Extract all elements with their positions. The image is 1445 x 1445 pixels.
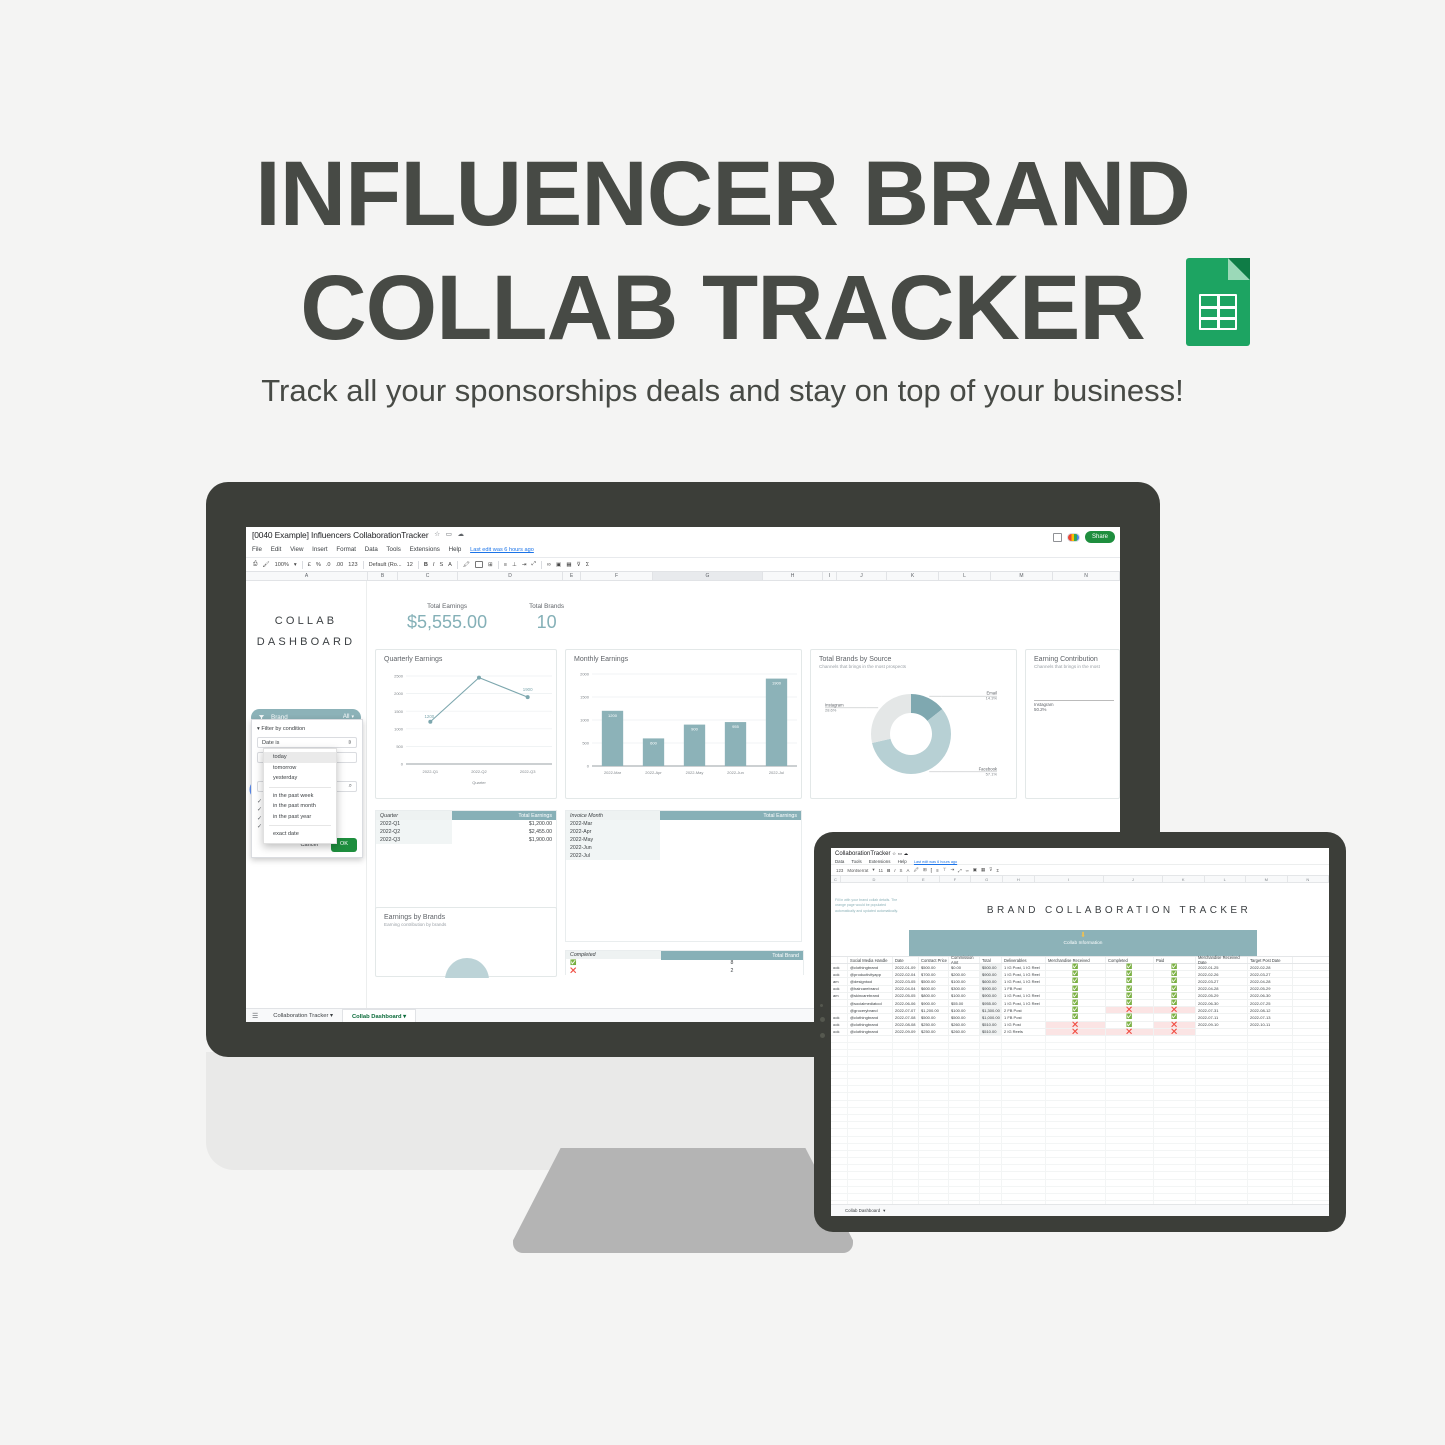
- tablet-volume-button[interactable]: [820, 1017, 825, 1022]
- search-icon: ⌕: [349, 783, 352, 790]
- table-cell: $500.00: [919, 964, 949, 970]
- table-cell: 2022-07-08: [893, 1014, 919, 1020]
- column-header[interactable]: Merchandise Received Date: [1196, 957, 1248, 963]
- document-title[interactable]: [0040 Example] Influencers Collaboration…: [252, 530, 429, 540]
- table-cell: $250.00: [919, 1022, 949, 1028]
- status-cell-paid[interactable]: ❌: [1154, 1007, 1196, 1013]
- last-edit-link[interactable]: Last edit was 6 hours ago: [914, 860, 957, 864]
- table-cell: 2022-05-29: [1196, 993, 1248, 999]
- fill-color-icon[interactable]: 🖍: [463, 562, 470, 568]
- table-row[interactable]: 2022-Mar: [566, 820, 801, 828]
- document-title[interactable]: CollaborationTracker ☆ ▭ ☁: [831, 848, 1329, 857]
- table-header-row[interactable]: Social Media HandleDateContract PriceCom…: [831, 956, 1329, 964]
- column-header[interactable]: Quarter: [376, 811, 452, 820]
- table-row[interactable]: 2022-Jun: [566, 844, 801, 852]
- table-cell: $500.00: [949, 1014, 980, 1020]
- status-cell-merch[interactable]: ✅: [1046, 978, 1106, 984]
- column-header[interactable]: Total Earnings: [660, 811, 801, 820]
- completed-table[interactable]: Completed Total Brand ✅ 8 ❌ 2: [565, 950, 804, 975]
- check-icon: ✅: [1072, 971, 1078, 977]
- table-cell: @socialmediatool: [848, 1000, 893, 1006]
- table-cell: $800.00: [919, 993, 949, 999]
- table-cell: $260.00: [949, 1029, 980, 1035]
- table-row[interactable]: 2022-Q2$2,455.00: [376, 828, 556, 836]
- tablet-screen: CollaborationTracker ☆ ▭ ☁ Data Tools Ex…: [831, 848, 1329, 1216]
- column-header-F[interactable]: F: [581, 572, 653, 580]
- menu-item-data[interactable]: Data: [365, 546, 378, 553]
- table-row[interactable]: ook@clothingbrand2022-08-08$250.00$260.0…: [831, 1022, 1329, 1029]
- chevron-down-icon[interactable]: ▾: [294, 562, 297, 568]
- column-header-F[interactable]: F: [940, 876, 972, 882]
- column-header-N[interactable]: N: [1053, 572, 1120, 580]
- column-header-D[interactable]: D: [458, 572, 563, 580]
- table-cell: ook: [831, 1029, 848, 1035]
- empty-row: [831, 1050, 1329, 1057]
- check-icon: ✅: [1072, 1014, 1078, 1020]
- font-size-select[interactable]: 12: [407, 562, 413, 568]
- tablet-volume-button[interactable]: [820, 1033, 825, 1038]
- cloud-icon[interactable]: ☁: [458, 530, 465, 538]
- menu-item-tools[interactable]: Tools: [851, 859, 861, 864]
- status-cell-paid[interactable]: ✅: [1154, 1014, 1196, 1020]
- svg-text:1900: 1900: [772, 681, 782, 686]
- table-row[interactable]: am@skincarebrand2022-05-05$800.00$100.00…: [831, 993, 1329, 1000]
- svg-text:2000: 2000: [580, 672, 590, 677]
- table-cell: $500.00: [980, 964, 1002, 970]
- empty-row: [831, 1036, 1329, 1043]
- table-cell: 2 FB Post: [1002, 1007, 1046, 1013]
- status-cell-completed[interactable]: ✅: [1106, 978, 1154, 984]
- valign-icon[interactable]: ⊤: [943, 867, 947, 873]
- print-icon[interactable]: ⎙: [253, 561, 257, 568]
- card-monthly-earnings[interactable]: Monthly Earnings 05001000150020001200202…: [565, 649, 802, 799]
- table-cell: 2022-07-13: [1248, 1014, 1293, 1020]
- svg-text:2022-Jun: 2022-Jun: [727, 770, 744, 775]
- status-cell-merch[interactable]: ❌: [1046, 1029, 1106, 1035]
- table-cell: $0.00: [949, 964, 980, 970]
- table-cell: [831, 1007, 848, 1013]
- svg-text:2022-May: 2022-May: [686, 770, 704, 775]
- menu-item-view[interactable]: View: [290, 546, 303, 553]
- move-icon[interactable]: ▭: [446, 530, 452, 538]
- svg-text:2000: 2000: [394, 691, 404, 696]
- merge-icon[interactable]: ⫿: [931, 868, 932, 873]
- decrease-decimal-button[interactable]: .0: [326, 562, 331, 568]
- cross-icon: ❌: [1171, 1029, 1177, 1035]
- empty-row: [831, 1072, 1329, 1079]
- table-cell: am: [831, 978, 848, 984]
- svg-text:955: 955: [732, 724, 739, 729]
- table-cell: 2022-08-12: [1248, 1007, 1293, 1013]
- svg-text:1200: 1200: [424, 714, 434, 719]
- horizontal-align-icon[interactable]: ≡: [504, 562, 507, 568]
- table-row[interactable]: 2022-Apr: [566, 828, 801, 836]
- column-header-I[interactable]: I: [823, 572, 837, 580]
- table-cell: 2022-06-30: [1196, 1000, 1248, 1006]
- table-cell: $55.00: [949, 1000, 980, 1006]
- column-header-A[interactable]: A: [246, 572, 368, 580]
- status-cell-merch[interactable]: ✅: [1046, 993, 1106, 999]
- table-row[interactable]: ook@haircarebrand2022-04-04$600.00$300.0…: [831, 986, 1329, 993]
- status-cell-completed[interactable]: ❌: [1106, 1029, 1154, 1035]
- cross-icon: ❌: [1126, 1007, 1132, 1013]
- status-cell-merch[interactable]: ✅: [1046, 1014, 1106, 1020]
- status-cell-paid[interactable]: ❌: [1154, 1029, 1196, 1035]
- column-header-G[interactable]: G: [653, 572, 763, 580]
- status-cell-completed[interactable]: ✅: [1106, 971, 1154, 977]
- empty-row: [831, 1086, 1329, 1093]
- condition-select[interactable]: Date is⇳: [257, 737, 357, 748]
- column-header-H[interactable]: H: [1003, 876, 1035, 882]
- card-quarterly-earnings[interactable]: Quarterly Earnings 050010001500200025002…: [375, 649, 557, 799]
- sheet-tab-collaboration-tracker[interactable]: Collaboration Tracker ▾: [264, 1009, 343, 1023]
- menu-item-today[interactable]: today: [264, 752, 336, 763]
- card-total-brands-by-source[interactable]: Total Brands by Source Channels that bri…: [810, 649, 1017, 799]
- menu-item-extensions[interactable]: Extensions: [410, 546, 440, 553]
- wrap-icon[interactable]: ⇥: [950, 867, 954, 873]
- column-header[interactable]: Completed: [566, 951, 661, 959]
- column-header[interactable]: Merchandise Received: [1046, 957, 1106, 963]
- table-cell: $600.00: [980, 978, 1002, 984]
- status-cell-merch[interactable]: ✅: [1046, 971, 1106, 977]
- table-cell: $250.00: [919, 1029, 949, 1035]
- table-cell: $100.00: [949, 1007, 980, 1013]
- table-cell: $500.00: [919, 978, 949, 984]
- table-cell: 2022-09-09: [893, 1029, 919, 1035]
- table-body: ook@clothingbrand2022-01-09$500.00$0.00$…: [831, 964, 1329, 1200]
- filter-icon[interactable]: ⊽: [577, 562, 581, 568]
- menu-item-tools[interactable]: Tools: [386, 546, 400, 553]
- column-header[interactable]: Total: [980, 957, 1002, 963]
- status-cell-paid[interactable]: ✅: [1154, 964, 1196, 970]
- column-header-E[interactable]: E: [908, 876, 940, 882]
- table-row[interactable]: 2022-May: [566, 836, 801, 844]
- menu-item-help[interactable]: Help: [898, 859, 907, 864]
- text-color-icon[interactable]: A: [906, 868, 909, 873]
- table-cell: 2022-07-31: [1196, 1007, 1248, 1013]
- svg-text:0: 0: [587, 764, 590, 769]
- check-icon: ✅: [1072, 978, 1078, 984]
- check-icon: ✅: [1126, 1022, 1132, 1028]
- more-formats-button[interactable]: 123: [836, 868, 843, 873]
- empty-row: [831, 1194, 1329, 1201]
- insert-chart-icon[interactable]: ▦: [566, 562, 571, 568]
- check-icon: ✓: [257, 806, 262, 813]
- status-cell-paid[interactable]: ✅: [1154, 1000, 1196, 1006]
- menu-item-help[interactable]: Help: [449, 546, 462, 553]
- menu-bar[interactable]: Data Tools Extensions Help Last edit was…: [831, 857, 1329, 864]
- sheet-tab-collab-dashboard[interactable]: Collab Dashboard: [845, 1208, 880, 1213]
- kpi-total-brands: Total Brands 10: [529, 603, 564, 633]
- comment-icon[interactable]: ▣: [973, 867, 977, 873]
- table-cell: 2022-02-04: [893, 971, 919, 977]
- column-header-E[interactable]: E: [563, 572, 581, 580]
- column-header-L[interactable]: L: [939, 572, 991, 580]
- star-icon[interactable]: ☆: [892, 851, 896, 856]
- table-cell: 2022-06-30: [1248, 993, 1293, 999]
- star-icon[interactable]: ☆: [434, 530, 440, 538]
- italic-button[interactable]: I: [433, 562, 435, 568]
- status-cell-completed[interactable]: ✅: [1106, 1022, 1154, 1028]
- link-icon[interactable]: ∞: [966, 868, 969, 873]
- toolbar[interactable]: ⎙ 🖌 100% ▾ £ % .0 .00 123 Default (Ro...…: [246, 557, 1120, 571]
- all-sheets-icon[interactable]: ☰: [252, 1012, 258, 1020]
- table-cell: 1 IG Post: [1002, 1022, 1046, 1028]
- table-cell: $260.00: [949, 1022, 980, 1028]
- menu-item-yesterday[interactable]: yesterday: [264, 773, 336, 784]
- text-color-button[interactable]: A: [448, 562, 452, 568]
- rotate-icon[interactable]: ⤢: [958, 868, 962, 873]
- empty-row: [831, 1043, 1329, 1050]
- status-cell-merch[interactable]: ✅: [1046, 1007, 1106, 1013]
- menu-item-edit[interactable]: Edit: [271, 546, 282, 553]
- column-header-H[interactable]: H: [763, 572, 823, 580]
- column-headers[interactable]: CDEFGHIJKLMN: [831, 875, 1329, 883]
- table-cell: ook: [831, 1014, 848, 1020]
- menu-bar[interactable]: File Edit View Insert Format Data Tools …: [246, 546, 1120, 557]
- column-header-K[interactable]: K: [1163, 876, 1205, 882]
- table-cell: @clothingbrand: [848, 1022, 893, 1028]
- svg-text:1000: 1000: [580, 718, 590, 723]
- status-cell-completed[interactable]: ❌: [1106, 1007, 1154, 1013]
- strikethrough-icon[interactable]: S: [900, 868, 903, 873]
- table-cell: 1 IG Post, 1 IG Reel: [1002, 964, 1046, 970]
- column-headers[interactable]: ABCDEFGHIJKLMN: [246, 571, 1120, 581]
- text-wrap-icon[interactable]: ⇥: [522, 562, 527, 568]
- menu-item-exact-date[interactable]: exact date: [264, 829, 336, 840]
- filter-icon[interactable]: ⊽: [989, 867, 992, 873]
- check-icon: ✓: [257, 798, 262, 805]
- bold-button[interactable]: B: [887, 868, 890, 873]
- check-icon: ✓: [257, 823, 262, 830]
- page-subtitle: Track all your sponsorships deals and st…: [0, 373, 1445, 409]
- chevron-down-icon[interactable]: ▾: [403, 1014, 406, 1020]
- table-cell: @clothingbrand: [848, 964, 893, 970]
- card-title: Monthly Earnings: [566, 650, 801, 663]
- kpi-value: 10: [529, 612, 564, 633]
- pie-callout-label: Instagram50.2%: [1034, 700, 1114, 712]
- svg-text:1500: 1500: [394, 709, 404, 714]
- status-cell-paid[interactable]: ❌: [1154, 1022, 1196, 1028]
- card-earning-contribution[interactable]: Earning Contribution Channels that bring…: [1025, 649, 1120, 799]
- chevron-down-icon[interactable]: ▾: [330, 1013, 333, 1019]
- menu-item-extensions[interactable]: Extensions: [869, 859, 890, 864]
- currency-format-button[interactable]: £: [308, 562, 311, 568]
- menu-item-past-month[interactable]: in the past month: [264, 801, 336, 812]
- kpi-value: $5,555.00: [407, 612, 487, 633]
- condition-options-menu[interactable]: today tomorrow yesterday in the past wee…: [263, 748, 337, 844]
- last-edit-link[interactable]: Last edit was 6 hours ago: [470, 547, 534, 553]
- fill-color-icon[interactable]: 🖍: [913, 867, 919, 873]
- status-cell-merch[interactable]: ✅: [1046, 986, 1106, 992]
- insert-comment-icon[interactable]: ▣: [556, 562, 561, 568]
- card-subtitle: Earning contribution by brands: [376, 921, 556, 927]
- column-header[interactable]: Social Media Handle: [848, 957, 893, 963]
- status-cell-completed[interactable]: ✅: [1106, 1014, 1154, 1020]
- column-header[interactable]: Deliverables: [1002, 957, 1046, 963]
- strikethrough-button[interactable]: S: [439, 562, 443, 568]
- column-header-M[interactable]: M: [1246, 876, 1288, 882]
- functions-button[interactable]: Σ: [996, 868, 999, 873]
- status-cell-completed[interactable]: ✅: [1106, 993, 1154, 999]
- chevron-down-icon[interactable]: ▾: [872, 867, 874, 873]
- table-row[interactable]: ook@clothingbrand2022-09-09$250.00$260.0…: [831, 1029, 1329, 1036]
- menu-item-past-week[interactable]: in the past week: [264, 791, 336, 802]
- table-row[interactable]: ✅ 8: [565, 959, 804, 967]
- column-header-J[interactable]: J: [837, 572, 887, 580]
- table-cell: ook: [831, 1022, 848, 1028]
- svg-text:900: 900: [691, 727, 698, 732]
- zoom-select[interactable]: 100%: [275, 562, 289, 568]
- vertical-align-icon[interactable]: ⊥: [512, 562, 517, 568]
- table-row[interactable]: @socialmediatool2022-06-06$900.00$55.00$…: [831, 1000, 1329, 1007]
- table-cell: $900.00: [980, 993, 1002, 999]
- move-icon[interactable]: ▭: [898, 851, 902, 856]
- titlebar-actions: Share: [1053, 531, 1115, 543]
- column-header[interactable]: Target Post Date: [1248, 957, 1293, 963]
- table-row[interactable]: ❌ 2: [565, 967, 804, 975]
- sheet-tab-bar[interactable]: Collab Dashboard ▾: [831, 1204, 1329, 1216]
- table-cell: ook: [831, 971, 848, 977]
- cloud-icon[interactable]: ☁: [904, 851, 908, 856]
- svg-text:2022-Q3: 2022-Q3: [520, 769, 536, 774]
- cross-icon: ❌: [1126, 1029, 1132, 1035]
- column-header-I[interactable]: I: [1035, 876, 1104, 882]
- column-header[interactable]: Total Earnings: [452, 811, 556, 820]
- sheet-tab-collab-dashboard[interactable]: Collab Dashboard ▾: [343, 1009, 416, 1023]
- menu-item-past-year[interactable]: in the past year: [264, 812, 336, 823]
- menu-item-tomorrow[interactable]: tomorrow: [264, 763, 336, 774]
- column-header[interactable]: Completed: [1106, 957, 1154, 963]
- status-cell-completed[interactable]: ✅: [1106, 986, 1154, 992]
- table-cell: 2022-03-27: [1196, 978, 1248, 984]
- italic-button[interactable]: I: [894, 868, 895, 873]
- filter-panel-header[interactable]: ▾ Filter by condition: [257, 726, 357, 732]
- share-button[interactable]: Share: [1085, 531, 1115, 543]
- column-header[interactable]: Paid: [1154, 957, 1196, 963]
- table-cell: 1 IG Post, 1 IG Reel: [1002, 978, 1046, 984]
- column-header-D[interactable]: D: [841, 876, 908, 882]
- status-cell-paid[interactable]: ✅: [1154, 971, 1196, 977]
- check-icon: ✅: [1072, 1000, 1078, 1006]
- table-row[interactable]: ook@clothingbrand2022-01-09$500.00$0.00$…: [831, 964, 1329, 971]
- menu-item-file[interactable]: File: [252, 546, 262, 553]
- check-icon: ✅: [1126, 978, 1132, 984]
- check-icon: ✅: [1171, 1000, 1177, 1006]
- menu-item-insert[interactable]: Insert: [312, 546, 327, 553]
- monthly-earnings-chart: 050010001500200012002022-Mar6002022-Apr9…: [566, 668, 803, 796]
- paint-format-icon[interactable]: 🖌: [262, 562, 269, 568]
- functions-button[interactable]: Σ: [586, 562, 589, 568]
- column-header[interactable]: Commission Amt: [949, 957, 980, 963]
- text-rotation-icon[interactable]: ⤢: [532, 561, 536, 568]
- check-icon: ✅: [1171, 993, 1177, 999]
- svg-text:2022-Q1: 2022-Q1: [423, 769, 439, 774]
- status-cell-paid[interactable]: ✅: [1154, 978, 1196, 984]
- table-row[interactable]: 2022-Q1$1,200.00: [376, 820, 556, 828]
- table-row[interactable]: 2022-Q3$1,900.00: [376, 836, 556, 844]
- column-header-G[interactable]: G: [971, 876, 1003, 882]
- chart-icon[interactable]: ▦: [981, 867, 985, 873]
- insert-link-icon[interactable]: ∞: [547, 562, 551, 568]
- table-cell: 1 IG Post, 1 IG Reel: [1002, 1000, 1046, 1006]
- column-header-K[interactable]: K: [887, 572, 939, 580]
- menu-item-format[interactable]: Format: [336, 546, 356, 553]
- column-header-L[interactable]: L: [1205, 876, 1247, 882]
- table-cell: 2022-04-04: [893, 986, 919, 992]
- status-cell-paid[interactable]: ✅: [1154, 986, 1196, 992]
- table-row[interactable]: ook@productivityapp2022-02-04$700.00$200…: [831, 971, 1329, 978]
- status-cell-merch[interactable]: ✅: [1046, 964, 1106, 970]
- toolbar[interactable]: 123 Montserrat ▾ 11 B I S A 🖍 ⊞ ⫿ ≡ ⊤ ⇥ …: [831, 864, 1329, 875]
- check-icon: ✅: [1126, 993, 1132, 999]
- svg-text:1000: 1000: [394, 726, 404, 731]
- card-earnings-by-brands[interactable]: Earnings by Brands Earning contribution …: [375, 907, 557, 977]
- table-cell: $300.00: [949, 986, 980, 992]
- more-formats-button[interactable]: 123: [348, 562, 357, 568]
- align-icon[interactable]: ≡: [936, 868, 939, 873]
- column-header-C[interactable]: C: [831, 876, 841, 882]
- percent-format-button[interactable]: %: [316, 562, 321, 568]
- status-cell-merch[interactable]: ❌: [1046, 1022, 1106, 1028]
- font-select[interactable]: Montserrat: [847, 868, 868, 873]
- status-cell-paid[interactable]: ✅: [1154, 993, 1196, 999]
- status-cell-completed[interactable]: ✅: [1106, 1000, 1154, 1006]
- borders-icon[interactable]: ⊞: [923, 867, 927, 873]
- kpi-row: Total Earnings $5,555.00 Total Brands 10: [367, 581, 1120, 633]
- svg-text:2022-Mar: 2022-Mar: [604, 770, 622, 775]
- table-cell: $200.00: [949, 971, 980, 977]
- increase-decimal-button[interactable]: .00: [336, 562, 344, 568]
- column-header-C[interactable]: C: [398, 572, 458, 580]
- menu-item-data[interactable]: Data: [835, 859, 844, 864]
- column-header[interactable]: Contract Price: [919, 957, 949, 963]
- table-row[interactable]: @grocerybrand2022-07-07$1,200.00$100.00$…: [831, 1007, 1329, 1014]
- chevron-down-icon[interactable]: ▾: [883, 1208, 885, 1214]
- invoice-month-table[interactable]: Invoice Month Total Earnings 2022-Mar 20…: [565, 810, 802, 942]
- table-cell: $900.00: [919, 1000, 949, 1006]
- column-header[interactable]: Date: [893, 957, 919, 963]
- table-row[interactable]: am@designtool2022-03-05$500.00$100.00$60…: [831, 978, 1329, 985]
- column-header-J[interactable]: J: [1104, 876, 1163, 882]
- completed-yes-icon: ✅: [566, 959, 661, 967]
- table-row[interactable]: ook@clothingbrand2022-07-08$500.00$500.0…: [831, 1014, 1329, 1021]
- bold-button[interactable]: B: [424, 562, 428, 568]
- table-cell: $1,000.00: [980, 1014, 1002, 1020]
- table-row[interactable]: 2022-Jul: [566, 852, 801, 860]
- table-cell: @grocerybrand: [848, 1007, 893, 1013]
- table-cell: @designtool: [848, 978, 893, 984]
- status-cell-merch[interactable]: ✅: [1046, 1000, 1106, 1006]
- table-cell: 2022-01-25: [1196, 964, 1248, 970]
- cross-icon: ❌: [1171, 1022, 1177, 1028]
- font-size-select[interactable]: 11: [879, 868, 884, 873]
- column-header-M[interactable]: M: [991, 572, 1053, 580]
- empty-row: [831, 1172, 1329, 1179]
- table-cell: 2022-09-10: [1196, 1022, 1248, 1028]
- borders-icon[interactable]: [475, 561, 483, 568]
- empty-row: [831, 1165, 1329, 1172]
- column-header-N[interactable]: N: [1288, 876, 1329, 882]
- status-cell-completed[interactable]: ✅: [1106, 964, 1154, 970]
- font-select[interactable]: Default (Ro...: [369, 562, 402, 568]
- comment-history-icon[interactable]: [1053, 533, 1062, 542]
- meet-icon[interactable]: [1067, 533, 1080, 542]
- table-cell: $900.00: [980, 971, 1002, 977]
- merge-cells-icon[interactable]: ⊞: [488, 562, 493, 568]
- column-header[interactable]: Invoice Month: [566, 811, 660, 820]
- column-header-B[interactable]: B: [368, 572, 398, 580]
